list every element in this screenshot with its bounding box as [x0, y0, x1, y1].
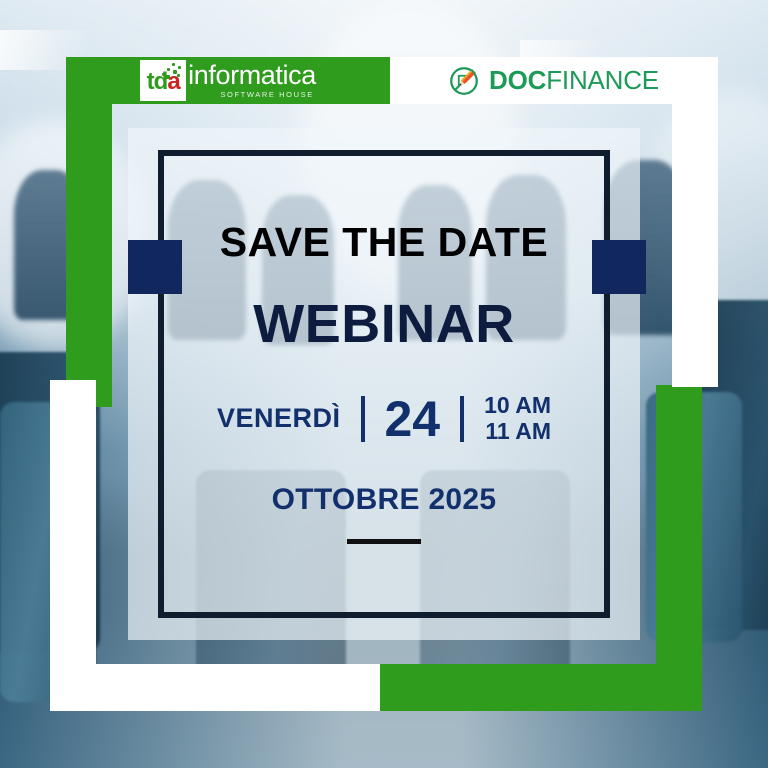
docfinance-wordmark: DOCFINANCE [489, 65, 659, 96]
page-title-webinar: WEBINAR [253, 297, 514, 351]
docfinance-text-bold: DOC [489, 65, 546, 95]
event-time-start: 10 AM [484, 393, 551, 419]
tda-dots-icon [161, 63, 183, 78]
event-time-end: 11 AM [485, 419, 551, 445]
tda-wordmark-text: informatica [188, 62, 316, 89]
white-band-left [50, 380, 96, 711]
tda-wordmark: informatica SOFTWARE HOUSE [188, 62, 316, 99]
save-the-date-poster: tda informatica SOFTWARE HOUSE DOCFINANC… [0, 0, 768, 768]
event-date-row: VENERDÌ 24 10 AM 11 AM [217, 393, 551, 445]
tda-tagline: SOFTWARE HOUSE [220, 90, 313, 99]
white-band-bottom [50, 664, 380, 711]
white-band-right [672, 57, 718, 387]
date-separator-left [361, 396, 365, 442]
event-times: 10 AM 11 AM [484, 393, 551, 445]
poster-content: SAVE THE DATE WEBINAR VENERDÌ 24 10 AM 1… [158, 150, 610, 618]
green-bracket-top-left-vertical [66, 57, 112, 407]
docfinance-text-light: FINANCE [546, 65, 659, 95]
event-weekday: VENERDÌ [217, 403, 341, 434]
decorative-rule [347, 539, 421, 544]
eyebrow-save-the-date: SAVE THE DATE [220, 222, 548, 263]
tda-informatica-logo: tda informatica SOFTWARE HOUSE [66, 57, 390, 104]
event-day-number: 24 [385, 394, 441, 444]
tda-logo-icon: tda [140, 60, 186, 101]
event-month-year: OTTOBRE 2025 [272, 483, 497, 517]
green-bracket-bottom-right-horizontal [378, 664, 702, 711]
docfinance-logo: DOCFINANCE [390, 57, 718, 104]
green-bracket-bottom-right-vertical [656, 385, 702, 711]
docfinance-pencil-circle-icon [449, 66, 479, 96]
date-separator-right [460, 396, 464, 442]
